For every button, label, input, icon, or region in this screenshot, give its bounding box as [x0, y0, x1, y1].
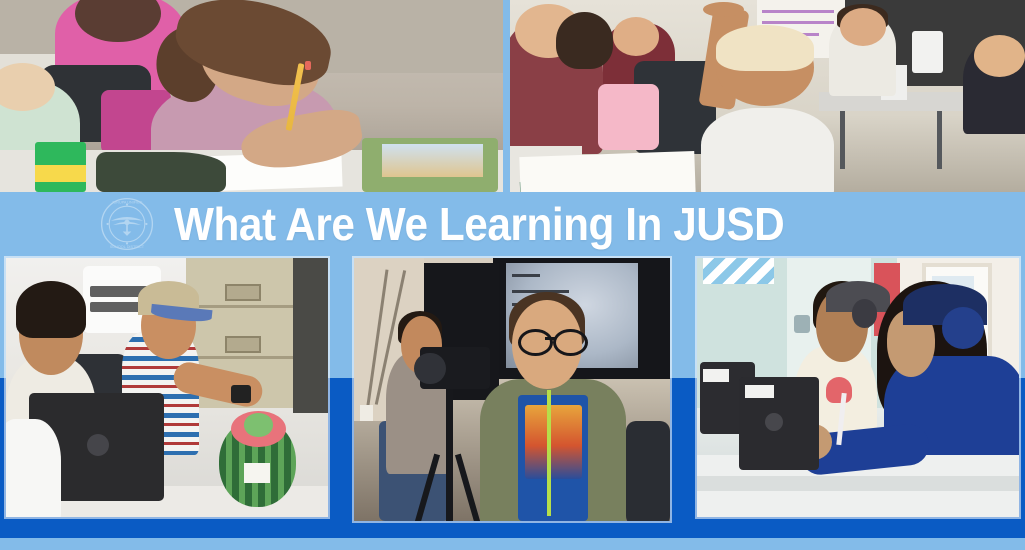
photo-girls-with-headphones-and-laptops: Two girls wearing headphones working on … [695, 256, 1021, 519]
bottom-photo-row: Two boys working at a Dell laptop next t… [0, 256, 1025, 524]
background-band-light-bottom [0, 538, 1025, 550]
top-photo-strip: Elementary student writing with a pencil… [0, 0, 1025, 192]
photo-boys-with-laptop-and-watermelon: Two boys working at a Dell laptop next t… [4, 256, 330, 519]
photo-boy-raising-hand: Student with blond hair raising his hand… [510, 0, 1025, 192]
jusd-banner-graphic: Elementary student writing with a pencil… [0, 0, 1025, 550]
svg-text:JURUPA UNIFIED: JURUPA UNIFIED [112, 200, 143, 204]
photo-girl-writing-at-desk: Elementary student writing with a pencil… [0, 0, 503, 192]
title-banner: JURUPA UNIFIED SCHOOL DISTRICT What Are … [0, 192, 1025, 256]
jusd-seal-icon: JURUPA UNIFIED SCHOOL DISTRICT [100, 197, 154, 251]
photo-students-with-video-camera: Two students operating a video camera on… [352, 256, 672, 523]
page-title: What Are We Learning In JUSD [174, 201, 784, 247]
svg-text:SCHOOL DISTRICT: SCHOOL DISTRICT [110, 245, 145, 249]
